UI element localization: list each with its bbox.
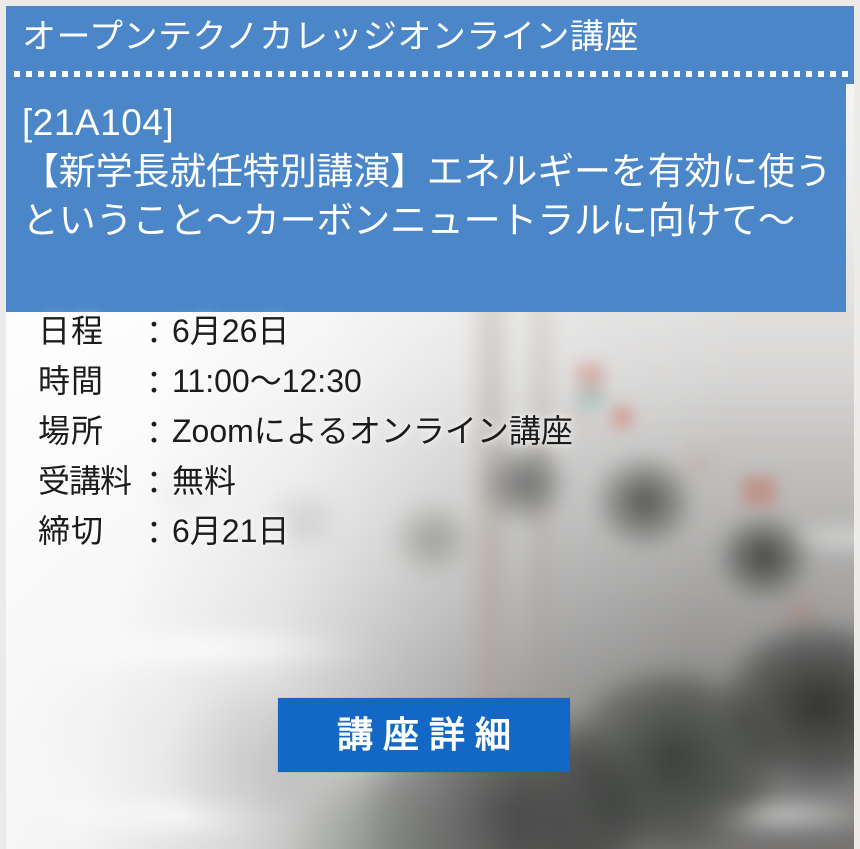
detail-value-time: 11:00〜12:30	[172, 356, 362, 406]
detail-row-time: 時間 ： 11:00〜12:30	[38, 356, 573, 406]
dotted-divider-icon	[14, 71, 848, 77]
detail-separator: ：	[146, 356, 172, 406]
course-code: [21A104]	[22, 98, 836, 147]
detail-row-venue: 場所 ： Zoomによるオンライン講座	[38, 406, 573, 456]
detail-separator: ：	[146, 506, 172, 556]
detail-value-venue: Zoomによるオンライン講座	[172, 406, 573, 456]
course-title: 【新学長就任特別講演】エネルギーを有効に使うということ〜カーボンニュートラルに向…	[22, 147, 836, 245]
course-title-block: [21A104] 【新学長就任特別講演】エネルギーを有効に使うということ〜カーボ…	[6, 84, 846, 312]
detail-separator: ：	[146, 306, 172, 356]
detail-value-fee: 無料	[172, 456, 236, 506]
detail-separator: ：	[146, 406, 172, 456]
course-details-list: 日程 ： 6月26日 時間 ： 11:00〜12:30 場所 ： Zoomによる…	[38, 306, 573, 556]
course-detail-button-label: 講座詳細	[327, 717, 521, 753]
header-bar: オープンテクノカレッジオンライン講座	[6, 6, 854, 84]
detail-value-schedule: 6月26日	[172, 306, 289, 356]
detail-label-fee: 受講料	[38, 456, 146, 506]
detail-label-venue: 場所	[38, 406, 146, 456]
detail-label-time: 時間	[38, 356, 146, 406]
detail-row-deadline: 締切 ： 6月21日	[38, 506, 573, 556]
course-announcement-card: オープンテクノカレッジオンライン講座 [21A104] 【新学長就任特別講演】エ…	[0, 0, 860, 849]
course-detail-button[interactable]: 講座詳細	[278, 698, 570, 772]
site-title: オープンテクノカレッジオンライン講座	[22, 17, 639, 57]
detail-row-fee: 受講料 ： 無料	[38, 456, 573, 506]
detail-separator: ：	[146, 456, 172, 506]
detail-label-deadline: 締切	[38, 506, 146, 556]
detail-value-deadline: 6月21日	[172, 506, 289, 556]
detail-label-schedule: 日程	[38, 306, 146, 356]
detail-row-schedule: 日程 ： 6月26日	[38, 306, 573, 356]
